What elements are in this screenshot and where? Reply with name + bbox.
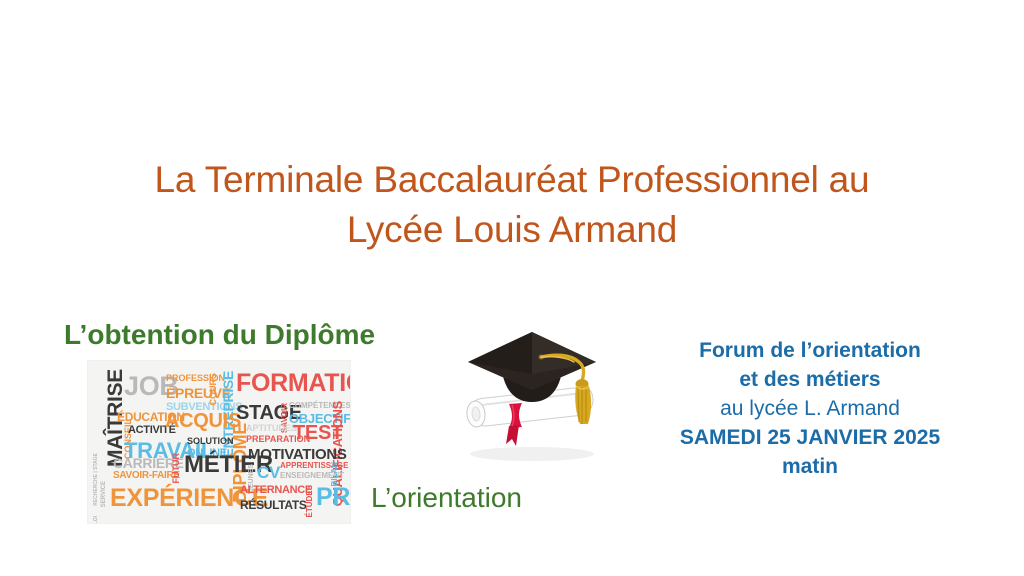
wordcloud-word: FUTUR — [172, 453, 181, 484]
wordcloud-word: ALTERNANCE — [240, 485, 312, 496]
wordcloud-word: APTITUDES — [246, 424, 297, 433]
wordcloud-word: CV — [257, 464, 280, 481]
event-info-block: Forum de l’orientation et des métiers au… — [630, 336, 990, 481]
page-title: La Terminale Baccalauréat Professionnel … — [0, 155, 1024, 255]
heading-orientation: L’orientation — [371, 481, 522, 515]
wordcloud-word: SERVICE — [101, 481, 107, 507]
wordcloud-word: TEST — [293, 423, 343, 443]
wordcloud-word: PROJET — [316, 485, 350, 510]
wordcloud-word: RÉSULTATS — [240, 499, 307, 511]
wordcloud-word: SAVOIR-FAIRE — [113, 471, 180, 481]
event-line-date: SAMEDI 25 JANVIER 2025 — [630, 423, 990, 452]
event-line-moment: matin — [630, 452, 990, 481]
event-line-lieu: au lycée L. Armand — [630, 394, 990, 423]
wordcloud-word: COURS — [209, 373, 218, 406]
wordcloud-word: MOTIVATIONS — [248, 447, 347, 462]
wordcloud-word: ÉTUDES — [306, 485, 314, 517]
wordcloud-word: SALAIRE | EMPLOI — [94, 516, 99, 523]
heading-obtention-diplome: L’obtention du Diplôme — [64, 318, 375, 352]
wordcloud-word: RECHERCHE | STAGE — [94, 453, 99, 506]
wordcloud-word: SOLUTION — [187, 437, 234, 446]
event-line-metiers: et des métiers — [630, 365, 990, 394]
event-line-forum: Forum de l’orientation — [630, 336, 990, 365]
wordcloud-word: FORMATION — [236, 371, 350, 396]
graduation-cap-diploma-image — [446, 326, 618, 471]
wordcloud-image: MAÎTRISECONSEILJOBPROFESSIONÉPREUVESUBVE… — [88, 361, 350, 523]
